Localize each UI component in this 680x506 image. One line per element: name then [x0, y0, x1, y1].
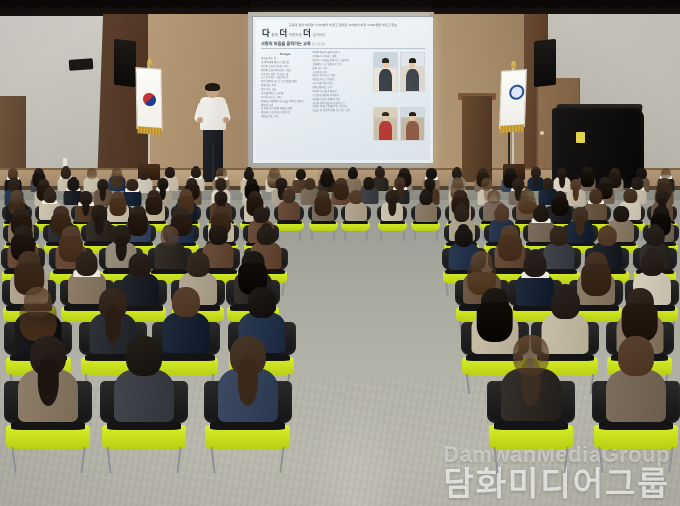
slide-title: 다 함께 더 따뜻하게 더 깊이까지 [261, 29, 425, 39]
photo-2-hair [409, 58, 416, 63]
slide-title-p2: 더 [279, 28, 287, 38]
audience-member-ponytail [559, 174, 565, 187]
slide-subtitle-text: 사랑의 마음을 움직이는 교육 [261, 41, 311, 46]
audience-member-head [75, 251, 98, 275]
audience-member-head [363, 177, 374, 189]
photo-1-hair [382, 58, 389, 63]
slide-title-p1-sub: 함께 [271, 33, 277, 37]
chair-legs [413, 231, 439, 241]
photo-3-hair [382, 112, 389, 116]
audience-member-head [215, 178, 226, 190]
slide-column-left: Prologue 마음을 여는 법내 아이에게 해주고 싶은 말부모와 교사가 … [261, 51, 309, 160]
audience-member-head [165, 167, 175, 178]
audience-member-body [606, 369, 666, 422]
audience-member-head [304, 178, 315, 190]
audience-member-head [172, 287, 200, 317]
audience-member-hair-bun [650, 224, 661, 233]
slide-photo-4 [400, 107, 425, 141]
flag-organization [499, 69, 527, 129]
audience-member-head [126, 336, 162, 376]
audience-member-hair-bun [646, 248, 659, 259]
wall-mounted-speaker-icon [69, 58, 94, 71]
speaker-box-right-icon [534, 39, 556, 87]
light-switch-icon [63, 158, 67, 166]
slide-photo-1 [373, 52, 398, 92]
audience-member-head [349, 190, 362, 204]
slide-title-p1: 다 [262, 28, 270, 38]
audience-member-hair-bun [63, 166, 69, 171]
slide-title-p2-sub: 따뜻하게 [289, 33, 301, 37]
audience-member-long-hair [315, 197, 332, 216]
chair-seat-cushion [594, 425, 678, 449]
audience-member-head [127, 179, 138, 191]
audience-member-hair-bun [193, 166, 199, 171]
audience-member-body [415, 202, 437, 221]
audience-member-head [550, 226, 569, 246]
audience-member-hair-bun [454, 167, 460, 172]
audience-member-hair-bun [537, 204, 546, 212]
audience-member-body [345, 202, 367, 221]
presenter-hair [205, 83, 220, 91]
lecture-hall-photo: 교육의 질이 바뀌면 1,000명이 바뀌고 결국은 250명이 바뀌 4,00… [0, 0, 680, 506]
photo-4-hair [409, 112, 416, 116]
photo-2-figure [406, 69, 419, 91]
audience-member-body [114, 369, 174, 422]
audience-member-hair-bun [261, 223, 272, 232]
chair-legs [379, 231, 405, 241]
audience-member-head [598, 226, 617, 246]
slide-photo-grid [373, 51, 425, 160]
audience-member-hair-bun [70, 177, 76, 183]
slide-text-line: 내일을 여는 교육 [261, 115, 309, 119]
slide-column-right: 아이와 어른이 같이 자란다관계에서 시작되는 배움정답보다 과정을 존중하는 … [312, 51, 370, 160]
audience-member-hair-bun [457, 203, 466, 211]
slide-body: Prologue 마음을 여는 법내 아이에게 해주고 싶은 말부모와 교사가 … [261, 51, 425, 160]
slide-header: 교육의 질이 바뀌면 1,000명이 바뀌고 결국은 250명이 바뀌 4,00… [261, 24, 425, 28]
chair-legs [310, 231, 336, 241]
chair-legs [492, 447, 569, 473]
audience-member-ponytail [95, 215, 104, 235]
audience-member [278, 189, 300, 220]
audience-member [606, 336, 666, 422]
audience-member [381, 190, 403, 221]
flag-korea [135, 67, 162, 131]
slide-column-right-lines: 아이와 어른이 같이 자란다관계에서 시작되는 배움정답보다 과정을 존중하는 … [312, 51, 370, 113]
audience-member-head [161, 226, 180, 246]
audience-member [218, 336, 278, 422]
audience-member-head [129, 253, 152, 277]
slide-content: 교육의 질이 바뀌면 1,000명이 바뀌고 결국은 250명이 바뀌 4,00… [256, 20, 430, 160]
audience-member-head [624, 189, 637, 203]
chair-seat-cushion [489, 425, 573, 449]
audience-member-hair-bun [11, 177, 17, 183]
chair-legs [343, 231, 369, 241]
audience-member-head [631, 177, 642, 189]
chair-seat-cushion [102, 425, 186, 449]
audience-member-head [613, 206, 629, 223]
speaker-box-left-icon [114, 39, 136, 87]
audience-member-head [283, 189, 296, 203]
chair-legs [597, 447, 674, 473]
presenter-hand-right [223, 117, 229, 123]
audience-member-hair-bun [529, 249, 542, 260]
audience-member [18, 336, 78, 422]
audience-member-head [186, 252, 209, 276]
audience-member [501, 335, 561, 421]
audience-member-head [248, 287, 276, 317]
slide-photo-3 [373, 107, 398, 141]
audience-member-head [618, 336, 654, 376]
audience-member-head [87, 168, 97, 179]
audience-member-body [278, 201, 300, 220]
audience-member-head [589, 189, 602, 203]
slide-text-line: 함께하는 배움의 시간 들을 이야기 하면서 [261, 100, 309, 104]
audience-member [312, 190, 334, 221]
audience-member-head [542, 178, 553, 190]
audience-member-ponytail [576, 216, 585, 236]
audience-member-hair-bun [350, 167, 356, 172]
audience-member-head [488, 190, 501, 204]
door-knob-icon [540, 131, 544, 135]
audience-member [415, 191, 437, 222]
presenter-hand-left [197, 117, 203, 123]
chair-legs [105, 447, 182, 473]
slide-section-label: Prologue [261, 53, 309, 57]
photo-3-figure [379, 121, 392, 140]
projection-screen: 교육의 질이 바뀌면 1,000명이 바뀌고 결국은 250명이 바뀌 4,00… [252, 16, 434, 164]
photo-4-figure [406, 121, 419, 140]
chair-seat-cushion [6, 425, 90, 449]
chair-legs [209, 447, 286, 473]
slide-title-p3-sub: 깊이까지 [313, 33, 325, 37]
slide-subtitle-tiny: 을 누군가는 [312, 42, 326, 46]
audience-member-hair-bun [458, 224, 469, 233]
slide-title-p3: 더 [303, 28, 311, 38]
chair-legs [10, 447, 87, 473]
slide-text-line: 오늘도 한 걸음씩 함께 걷는 일 - 교육 [312, 109, 370, 113]
audience-member [345, 190, 367, 221]
audience-member [114, 336, 174, 422]
audience-member-head [209, 225, 228, 245]
slide-column-left-lines: 마음을 여는 법내 아이에게 해주고 싶은 말부모와 교사가 만나는 자리아이의… [261, 57, 309, 119]
audience-member-hair-bun [246, 167, 252, 172]
slide-subtitle: 사랑의 마음을 움직이는 교육 을 누군가는 [261, 41, 425, 49]
photo-1-figure [379, 69, 392, 91]
chair-seat-cushion [205, 425, 289, 449]
piano-yellow-tag [576, 132, 585, 143]
audience-member-head [253, 207, 269, 224]
slide-photo-2 [400, 52, 425, 92]
